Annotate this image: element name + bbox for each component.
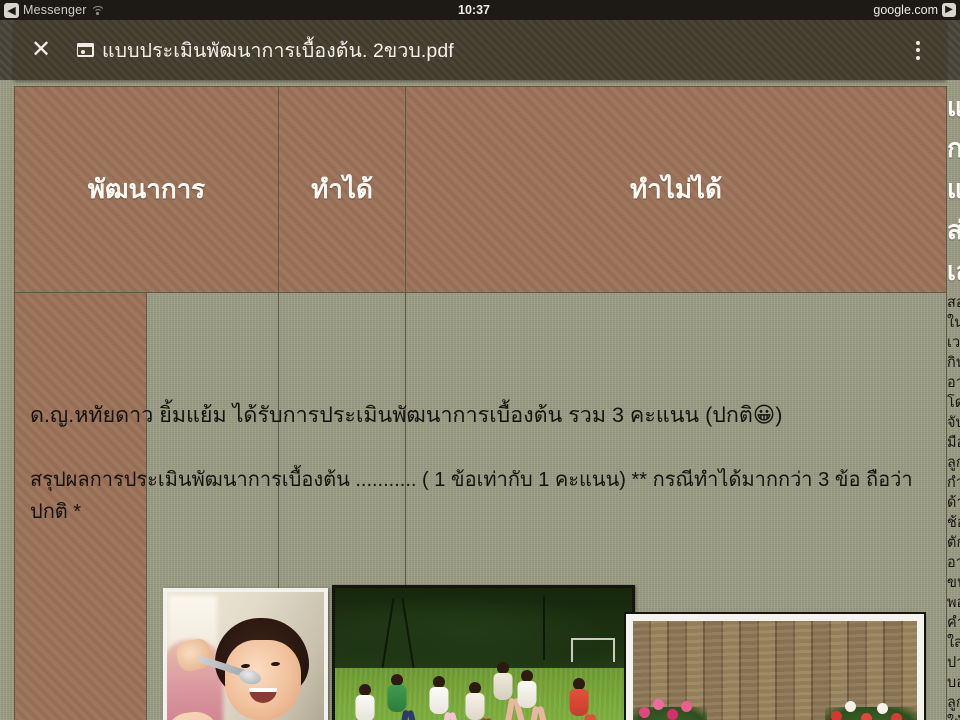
two-girls-sitting-on-bench-photo: [626, 614, 924, 720]
status-bar: ◀ Messenger 10:37 google.com ▶: [0, 0, 960, 20]
children-running-on-field-photo: [332, 585, 635, 720]
table-header-row: พัฒนาการ ทำได้ ทำไม่ได้ แนวทางกระตุ้นและ…: [15, 87, 947, 293]
pdf-viewer-appbar: ✕ แบบประเมินพัฒนาการเบื้องต้น. 2ขวบ.pdf: [14, 20, 946, 80]
domain-label: google.com: [873, 3, 938, 17]
status-bar-time: 10:37: [0, 0, 960, 20]
header-can-do: ทำได้: [279, 87, 406, 293]
header-cannot-do: ทำไม่ได้: [406, 87, 947, 293]
more-options-icon[interactable]: [890, 20, 946, 80]
close-button[interactable]: ✕: [14, 20, 68, 80]
assessment-note-line: สรุปผลการประเมินพัฒนาการเบื้องต้น ......…: [30, 464, 935, 528]
toddler-eating-with-spoon-photo: [163, 588, 328, 720]
pdf-document-icon: [68, 20, 102, 80]
document-title: แบบประเมินพัฒนาการเบื้องต้น. 2ขวบ.pdf: [102, 35, 454, 66]
forward-arrow-icon[interactable]: ▶: [942, 3, 956, 17]
pdf-page[interactable]: พัฒนาการ ทำได้ ทำไม่ได้ แนวทางกระตุ้นและ…: [0, 80, 960, 720]
assessment-result-line: ด.ญ.หทัยดาว ยิ้มแย้ม ได้รับการประเมินพัฒ…: [30, 398, 782, 432]
header-development: พัฒนาการ: [15, 87, 279, 293]
address-domain-badge[interactable]: google.com ▶: [873, 2, 956, 18]
screen-root: "หนูจะเอาอะไร" "แม่ไปไหน" "พ่อทำอะไรอยู่…: [0, 0, 960, 720]
